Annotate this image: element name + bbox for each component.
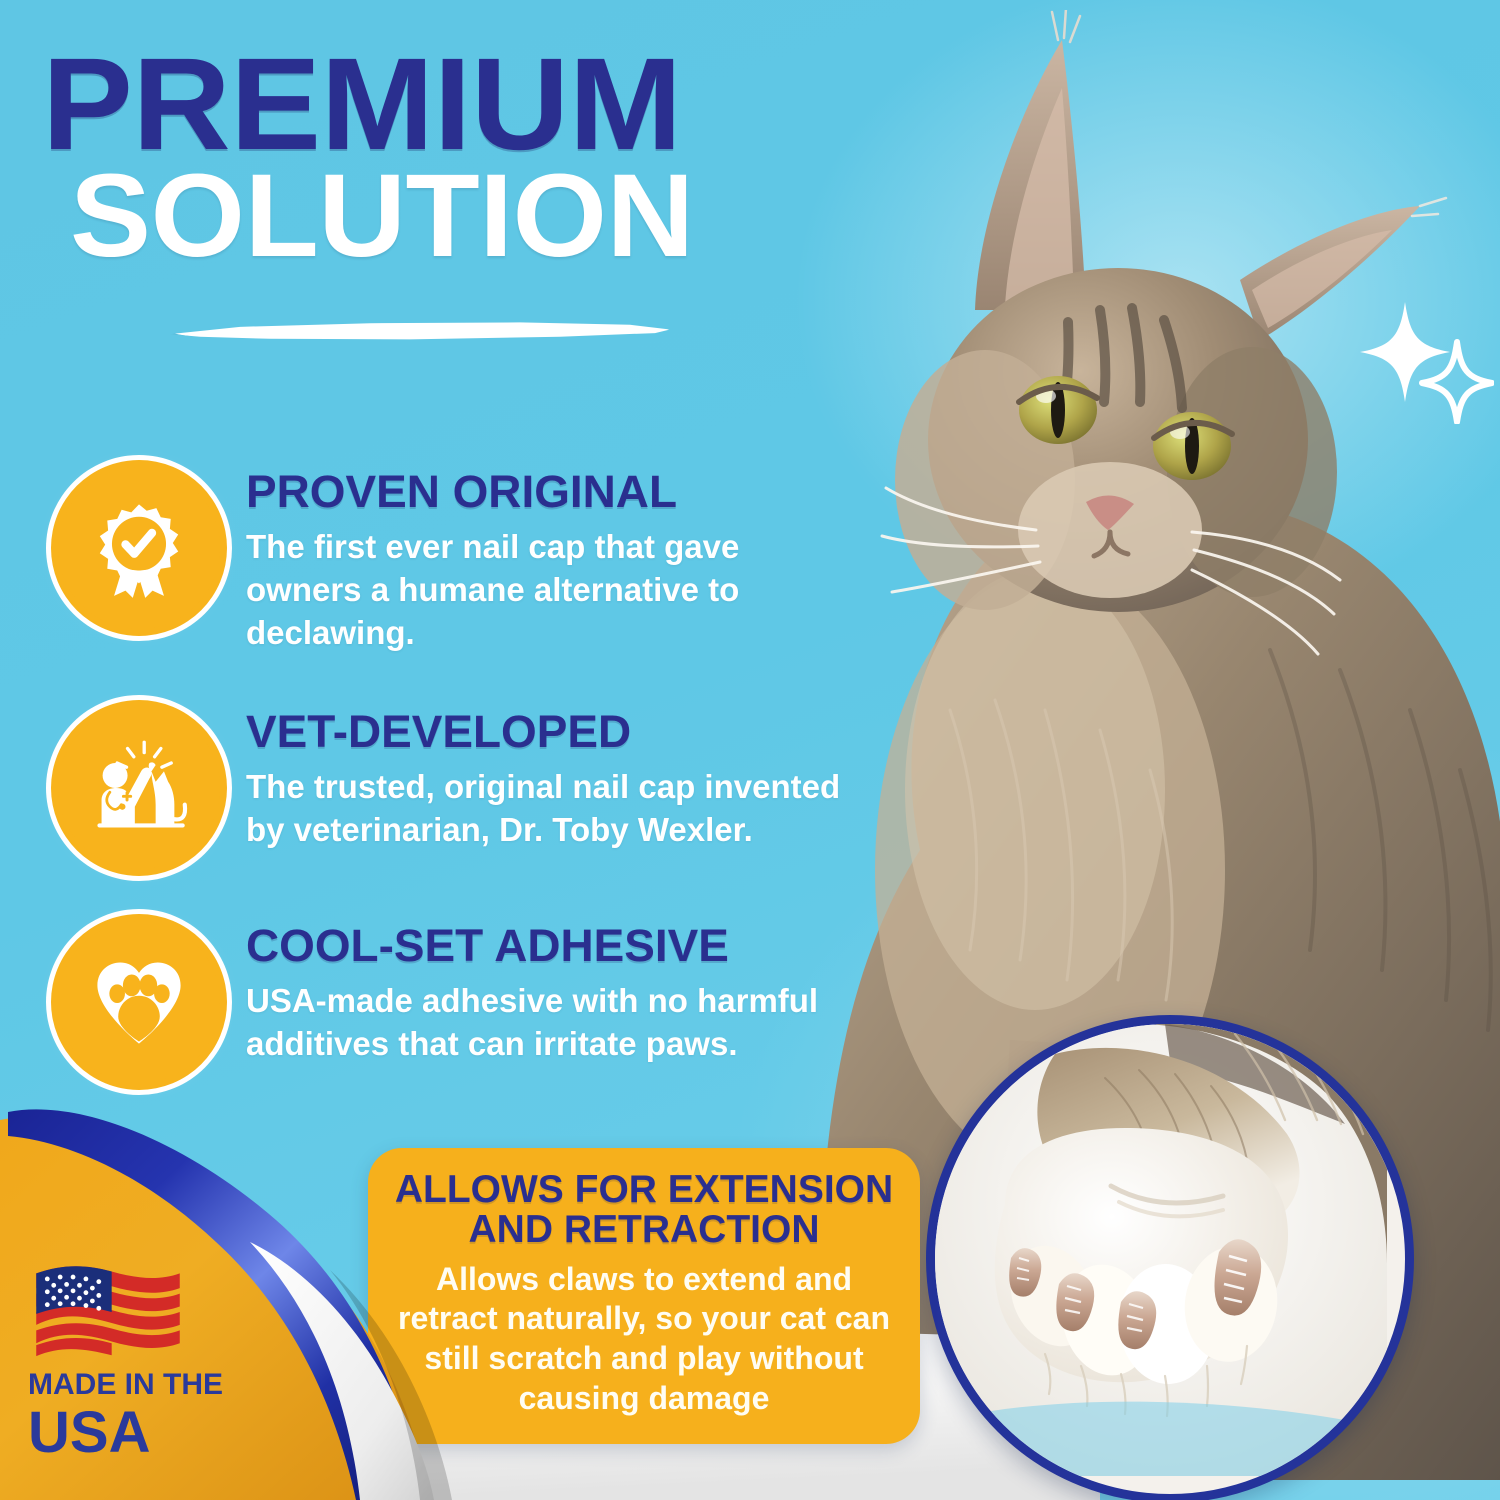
feature-item: PROVEN ORIGINAL The first ever nail cap … — [58, 455, 868, 655]
made-in-usa-badge: MADE IN THE USA — [28, 1266, 258, 1462]
cat-paw-with-nail-caps-closeup — [926, 1015, 1414, 1500]
feature-description: The first ever nail cap that gave owners… — [246, 526, 846, 655]
feature-description: USA-made adhesive with no harmful additi… — [246, 980, 846, 1066]
headline-line-2: SOLUTION — [70, 165, 886, 269]
vet-high-five-cat-icon — [58, 707, 220, 869]
feature-list: PROVEN ORIGINAL The first ever nail cap … — [58, 455, 868, 1125]
sparkle-stars-icon — [1358, 300, 1494, 424]
product-feature-graphic: PREMIUM SOLUTION PROVEN ORIGINAL The fir… — [0, 0, 1500, 1500]
headline-line-1: PREMIUM — [42, 46, 895, 161]
headline: PREMIUM SOLUTION — [42, 46, 862, 269]
award-ribbon-icon — [58, 467, 220, 629]
feature-item: COOL-SET ADHESIVE USA-made adhesive with… — [58, 909, 868, 1083]
feature-title: VET-DEVELOPED — [246, 709, 880, 754]
feature-item: VET-DEVELOPED The trusted, original nail… — [58, 695, 868, 869]
heart-paw-icon — [58, 921, 220, 1083]
us-flag-icon — [34, 1266, 182, 1358]
feature-title: PROVEN ORIGINAL — [246, 469, 880, 514]
feature-description: The trusted, original nail cap invented … — [246, 766, 846, 852]
made-in-usa-line-1: MADE IN THE — [28, 1370, 258, 1400]
made-in-usa-line-2: USA — [28, 1404, 258, 1462]
feature-title: COOL-SET ADHESIVE — [246, 923, 880, 968]
